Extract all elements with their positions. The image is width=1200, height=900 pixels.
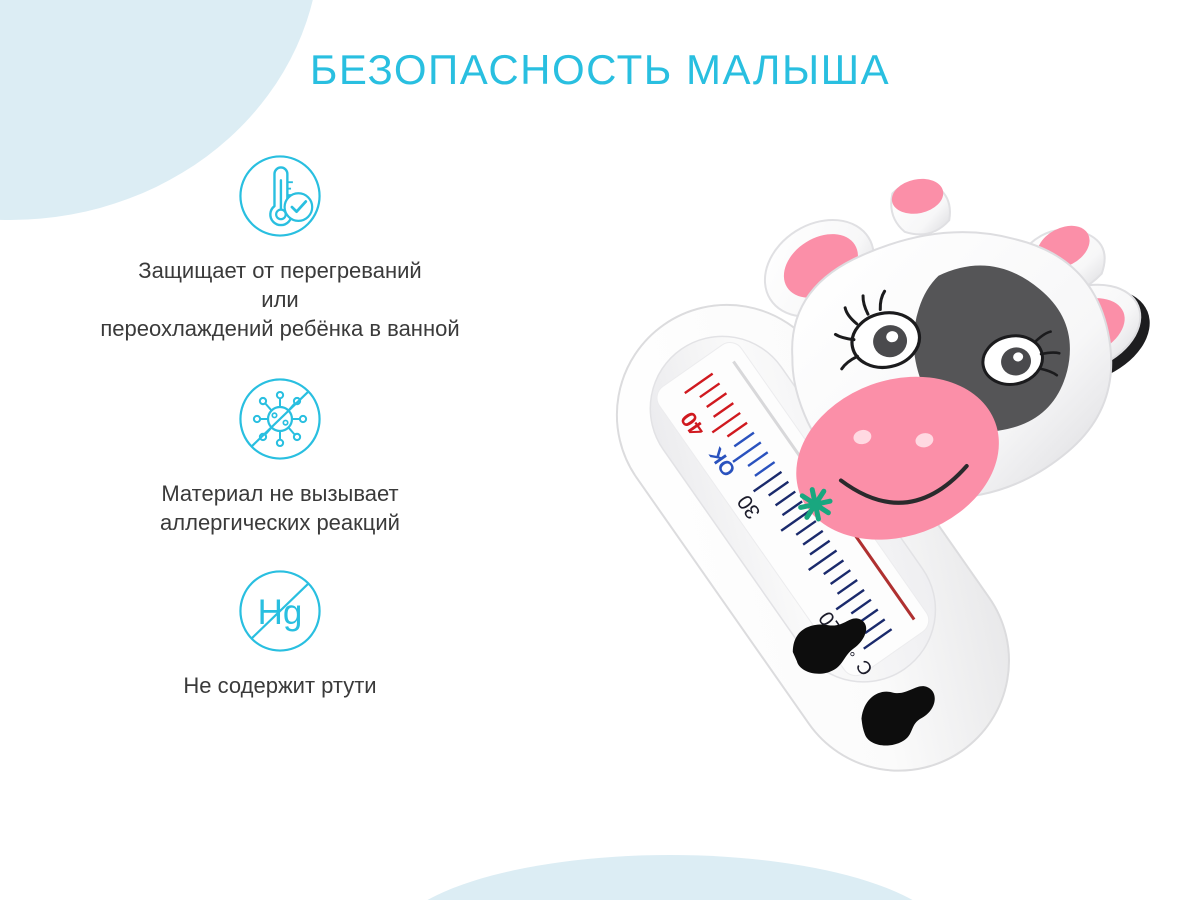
feature-line: Материал не вызывает xyxy=(160,479,400,508)
feature-line: Не содержит ртути xyxy=(183,671,376,700)
product-illustration: 20 30 40 OK C ° xyxy=(430,165,1150,845)
feature-text-mercury-free: Не содержит ртути xyxy=(183,671,376,700)
page-title: БЕЗОПАСНОСТЬ МАЛЫША xyxy=(0,46,1200,94)
feature-line: или xyxy=(100,285,459,314)
slide-canvas: БЕЗОПАСНОСТЬ МАЛЫША Защищает от пере xyxy=(0,0,1200,900)
no-mercury-icon: Hg xyxy=(234,565,326,657)
thermometer-check-icon xyxy=(234,150,326,242)
no-allergen-icon xyxy=(234,373,326,465)
product-image-bath-thermometer: 20 30 40 OK C ° xyxy=(430,165,1150,845)
feature-line: Защищает от перегреваний xyxy=(100,256,459,285)
feature-line: аллергических реакций xyxy=(160,508,400,537)
feature-line: переохлаждений ребёнка в ванной xyxy=(100,314,459,343)
feature-text-hypoallergenic: Материал не вызывает аллергических реакц… xyxy=(160,479,400,537)
background-blob-bottom xyxy=(390,855,950,900)
feature-text-temperature: Защищает от перегреваний или переохлажде… xyxy=(100,256,459,343)
